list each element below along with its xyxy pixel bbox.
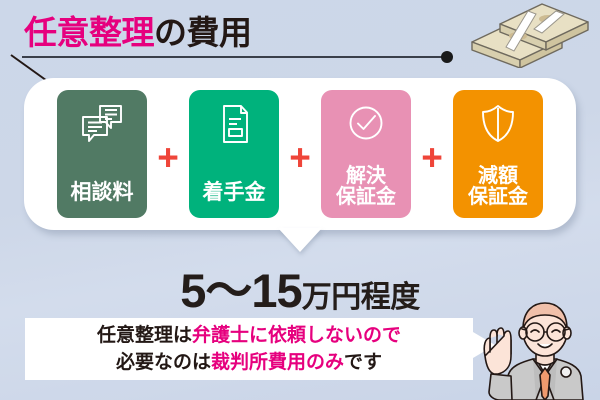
- caption-line-2-highlight: 裁判所費用のみ: [211, 352, 344, 373]
- shield-icon: [476, 103, 520, 145]
- fee-item-consultation[interactable]: 相談料: [57, 90, 147, 218]
- fee-item-reduction-guarantee[interactable]: 減額 保証金: [453, 90, 543, 218]
- caption-line-1-highlight: 弁護士に依頼しないので: [192, 325, 401, 346]
- fee-items-row: 相談料 + 着手金 + 解決 保証金: [36, 90, 564, 218]
- fee-item-label: 相談料: [71, 182, 134, 204]
- fee-item-label: 着手金: [203, 182, 266, 204]
- fee-item-settlement-guarantee[interactable]: 解決 保証金: [321, 90, 411, 218]
- plus-separator-3-icon: +: [411, 139, 453, 176]
- fee-item-label: 減額 保証金: [468, 166, 528, 208]
- amount-value: 5〜15: [180, 264, 301, 317]
- plus-separator-2-icon: +: [279, 139, 321, 176]
- title-underline: [22, 56, 446, 58]
- document-icon: [212, 103, 256, 145]
- title-highlight: 任意整理: [24, 14, 154, 51]
- infographic-canvas: 任意整理の費用: [0, 0, 600, 400]
- lawyer-waving-icon: [478, 296, 600, 400]
- caption-line-2: 必要なのは裁判所費用のみです: [116, 349, 382, 376]
- check-circle-icon: [344, 103, 388, 145]
- fee-item-label: 解決 保証金: [336, 166, 396, 208]
- fee-item-retainer[interactable]: 着手金: [189, 90, 279, 218]
- page-title: 任意整理の費用: [24, 6, 252, 54]
- title-end-dot: [441, 51, 453, 63]
- plus-separator-1-icon: +: [147, 139, 189, 176]
- caption-line-1-pre: 任意整理は: [97, 325, 192, 346]
- caption-line-2-pre: 必要なのは: [116, 352, 211, 373]
- title-rest: の費用: [154, 14, 252, 51]
- panel-arrow-notch-icon: [278, 228, 322, 252]
- cash-bundles-icon: [462, 2, 592, 68]
- amount-unit: 万円程度: [302, 281, 420, 314]
- caption-line-1: 任意整理は弁護士に依頼しないので: [97, 322, 401, 349]
- chat-bubbles-icon: [80, 103, 124, 145]
- caption-line-2-post: です: [344, 352, 382, 373]
- caption-bubble: 任意整理は弁護士に依頼しないので 必要なのは裁判所費用のみです: [25, 318, 473, 380]
